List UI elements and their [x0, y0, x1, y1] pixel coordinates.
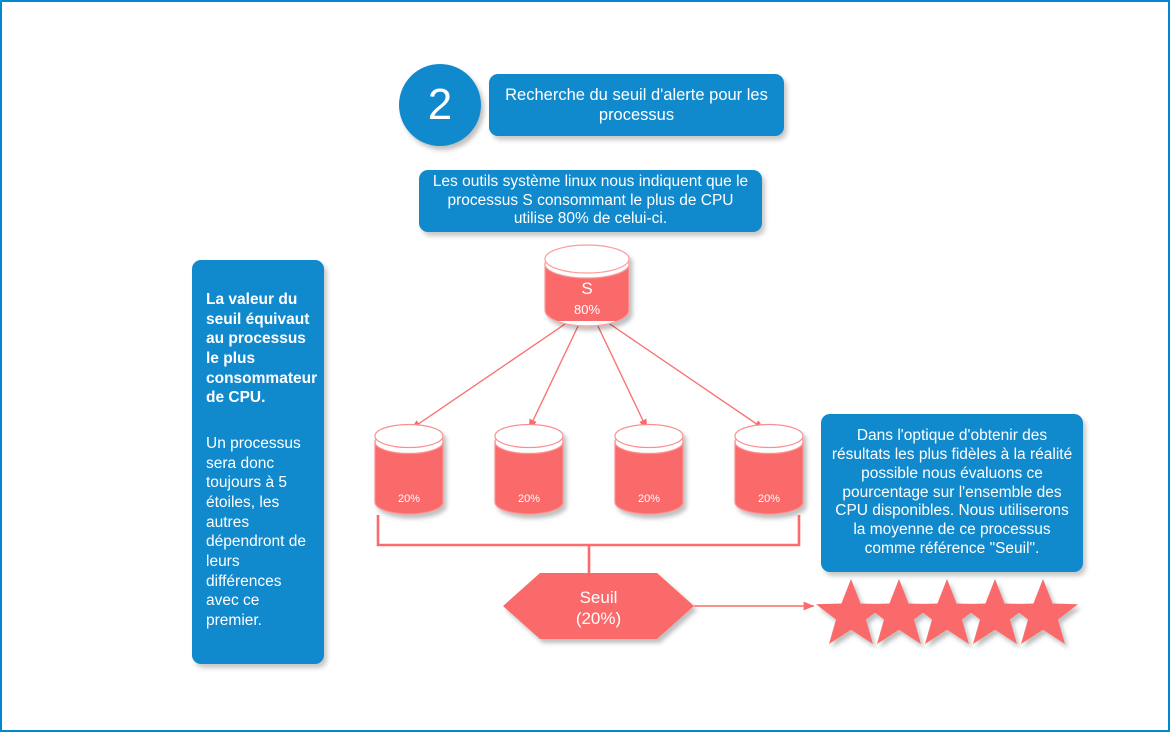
arrow-icon-2: [529, 322, 580, 429]
arrow-icon-1: [411, 320, 571, 429]
cylinder-group: [375, 425, 803, 515]
info-callout-box: Les outils système linux nous indiquent …: [419, 170, 762, 232]
step-title-box: Recherche du seuil d'alerte pour les pro…: [489, 74, 784, 136]
cylinder-icon-4: [735, 425, 803, 515]
diagram-canvas: 2 Recherche du seuil d'alerte pour les p…: [0, 0, 1170, 732]
cpu-cylinder-percent-2: 20%: [495, 493, 563, 505]
star-icon-5: [1008, 579, 1078, 644]
right-explanation-panel: Dans l'optique d'obtenir des résultats l…: [821, 414, 1083, 572]
cylinder-icon-2: [495, 425, 563, 515]
rating-stars: [816, 579, 1078, 644]
cylinder-icon-3: [615, 425, 683, 515]
threshold-label-line-1: Seuil: [503, 587, 694, 608]
left-panel-paragraph-1: La valeur du seuil équivaut au processus…: [206, 290, 310, 408]
left-panel-paragraph-2: Un processus sera donc toujours à 5 étoi…: [206, 434, 310, 631]
fanout-arrows: [411, 320, 764, 429]
arrow-icon-4: [604, 320, 764, 429]
star-icon-3: [912, 579, 982, 644]
star-icon-2: [864, 579, 934, 644]
left-explanation-panel: La valeur du seuil équivaut au processus…: [192, 260, 324, 664]
step-number-badge: 2: [399, 64, 481, 146]
hexagon-icon-threshold: [503, 573, 694, 639]
star-icon-1: [816, 579, 886, 644]
cylinder-icon-main: [545, 245, 629, 326]
main-cylinder-percent: 80%: [545, 302, 629, 317]
main-cylinder-name: S: [545, 279, 629, 299]
bracket-connector: [378, 515, 799, 574]
cylinder-icon-1: [375, 425, 443, 515]
threshold-label-line-2: (20%): [503, 608, 694, 629]
star-icon-4: [960, 579, 1030, 644]
cpu-cylinder-percent-1: 20%: [375, 493, 443, 505]
cpu-cylinder-percent-3: 20%: [615, 493, 683, 505]
cpu-cylinder-percent-4: 20%: [735, 493, 803, 505]
arrow-icon-3: [596, 322, 647, 429]
